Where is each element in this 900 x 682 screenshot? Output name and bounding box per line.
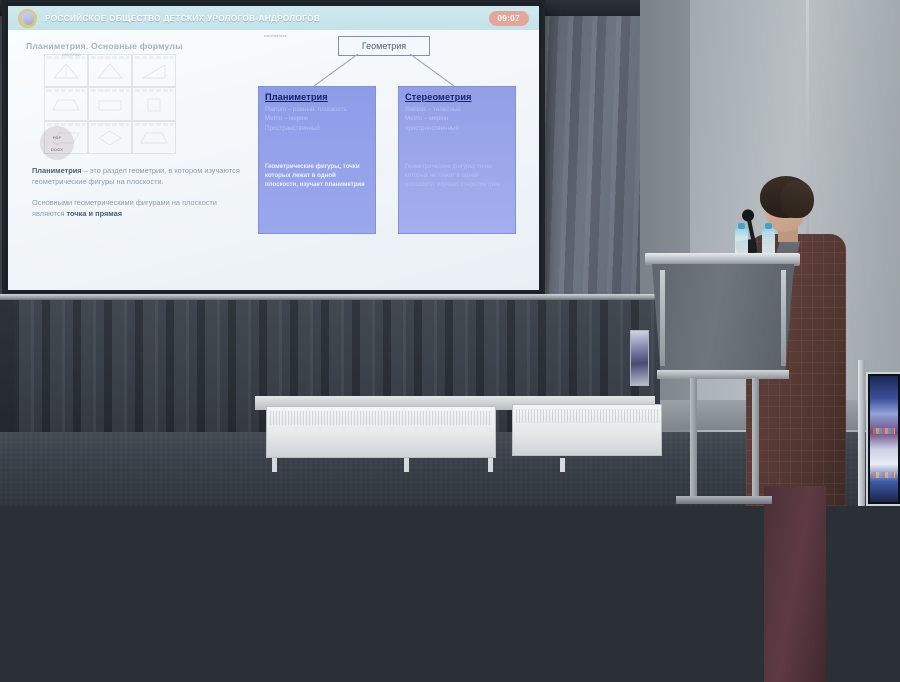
monitor-screen xyxy=(870,376,898,502)
radiator-leg xyxy=(488,458,493,472)
projection-screen-frame: РОССИЙСКОЕ ОБЩЕСТВО ДЕТСКИХ УРОЛОГОВ-АНД… xyxy=(2,0,545,296)
podium-leg xyxy=(752,378,759,500)
slide-banner: РОССИЙСКОЕ ОБЩЕСТВО ДЕТСКИХ УРОЛОГОВ-АНД… xyxy=(8,6,539,30)
formula-cell xyxy=(132,54,176,87)
monitor-stripe xyxy=(873,472,895,478)
diagram-connectors xyxy=(248,54,528,88)
formula-cell xyxy=(132,87,176,120)
diagram-root-node: Геометрия xyxy=(338,36,430,56)
watermark-line-3: DOCX xyxy=(51,147,63,152)
podium-rail xyxy=(657,370,789,379)
formula-cell xyxy=(88,54,132,87)
radiator-leg xyxy=(272,458,277,472)
diagram-box-planimetry: Планиметрия Planum – равный, плоскость M… xyxy=(258,86,376,234)
radiator-right xyxy=(512,404,662,456)
radiator-left xyxy=(266,406,496,458)
paragraph-planimetry-definition: Планиметрия – это раздел геометрии, в ко… xyxy=(32,166,247,187)
box-definition-stereometry: Геометрические фигуры, точки которых не … xyxy=(405,163,509,189)
formula-cell xyxy=(88,121,132,154)
paragraph-lead-text: Основными геометрическими фигурами на пл… xyxy=(32,198,217,218)
diagram-box-stereometry: Стереометрия Stereos – телесный Metrio –… xyxy=(398,86,516,234)
presenter-trousers xyxy=(764,486,826,682)
paragraph-lead-term: Планиметрия xyxy=(32,166,82,175)
monitor-stripe xyxy=(873,428,895,434)
box-definition-planimetry: Геометрические фигуры, точки которых леж… xyxy=(265,163,369,189)
pdf-to-docx-watermark: PDF → DOCX xyxy=(40,126,74,160)
formula-cell xyxy=(44,54,88,87)
projection-screen: РОССИЙСКОЕ ОБЩЕСТВО ДЕТСКИХ УРОЛОГОВ-АНД… xyxy=(8,6,539,290)
podium-body xyxy=(652,264,794,372)
box-heading-stereometry: Стереометрия xyxy=(405,92,509,102)
paragraph-bold-term: точка и прямая xyxy=(67,209,123,218)
conference-room-scene: РОССИЙСКОЕ ОБЩЕСТВО ДЕТСКИХ УРОЛОГОВ-АНД… xyxy=(0,0,900,506)
organization-title: РОССИЙСКОЕ ОБЩЕСТВО ДЕТСКИХ УРОЛОГОВ-АНД… xyxy=(45,14,481,23)
formula-cell xyxy=(88,87,132,120)
box-etymology-planimetry: Planum – равный, плоскость Metrio – меря… xyxy=(265,105,369,133)
presenter-hair-back xyxy=(780,180,814,218)
box-heading-planimetry: Планиметрия xyxy=(265,92,369,102)
slide-paragraphs: Планиметрия – это раздел геометрии, в ко… xyxy=(32,166,247,220)
radiator-leg xyxy=(560,458,565,472)
radiator-leg xyxy=(404,458,409,472)
speaker-cabinet xyxy=(0,300,14,432)
organization-logo-icon xyxy=(18,9,37,28)
box-etymology-stereometry: Stereos – телесный Metrio – меряю простр… xyxy=(405,105,509,133)
watermark-line-2: → xyxy=(55,141,59,146)
paragraph-basic-figures: Основными геометрическими фигурами на пл… xyxy=(32,198,247,219)
confidence-monitor xyxy=(866,372,900,506)
watermark-line-1: PDF xyxy=(53,135,62,140)
podium-foot xyxy=(676,496,772,504)
formula-cell xyxy=(132,121,176,154)
floor-poster xyxy=(630,330,649,386)
podium-leg xyxy=(690,378,697,500)
time-badge: 09:07 xyxy=(489,11,529,26)
geometry-diagram: Геометрия Планиметрия Planum – равный, п… xyxy=(248,34,528,234)
formula-cell xyxy=(44,87,88,120)
monitor-stand xyxy=(858,360,865,506)
